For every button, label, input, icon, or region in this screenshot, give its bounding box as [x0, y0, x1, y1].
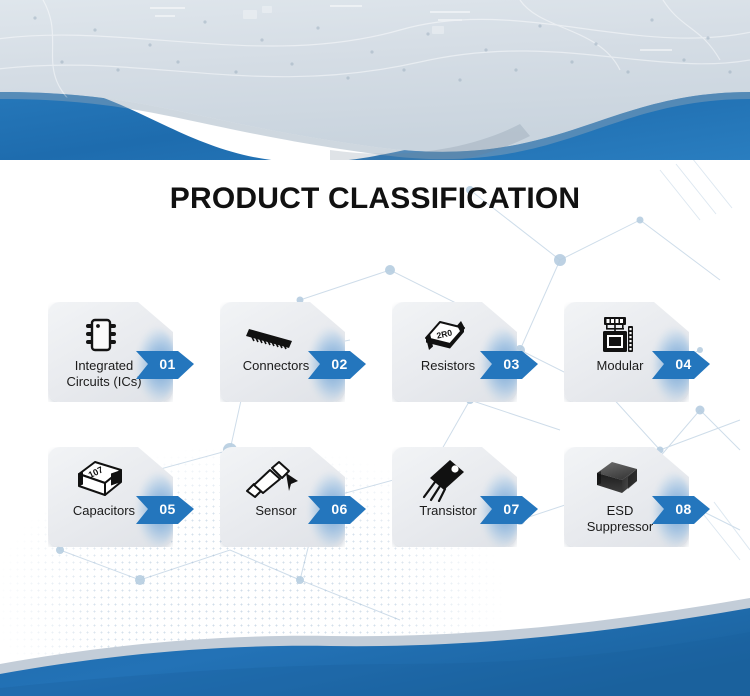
card-label-line2: Circuits (ICs)	[66, 374, 141, 389]
badge-07: 07	[478, 490, 540, 528]
card-label-line1: Integrated	[75, 358, 134, 373]
card-label-line1: ESD	[607, 503, 634, 518]
badge-number: 08	[650, 490, 705, 528]
header-banner	[0, 0, 750, 160]
card-label-line2: Suppressor	[587, 519, 653, 534]
badge-05: 05	[134, 490, 196, 528]
category-card-esd-suppressor[interactable]: ESD Suppressor 08	[564, 447, 689, 547]
category-card-connectors[interactable]: Connectors 02	[220, 302, 345, 402]
badge-number: 01	[134, 345, 189, 383]
badge-number: 04	[650, 345, 705, 383]
badge-number: 03	[478, 345, 533, 383]
header-circuit-texture	[0, 0, 750, 160]
category-card-transistor[interactable]: Transistor 07	[392, 447, 517, 547]
footer-wave-shape	[0, 536, 750, 696]
badge-03: 03	[478, 345, 540, 383]
category-card-modular[interactable]: Modular 04	[564, 302, 689, 402]
card-label-line1: Transistor	[419, 503, 476, 518]
card-label-line1: Sensor	[255, 503, 296, 518]
category-grid: Integrated Circuits (ICs) 01	[48, 302, 708, 547]
badge-02: 02	[306, 345, 368, 383]
category-card-integrated-circuits[interactable]: Integrated Circuits (ICs) 01	[48, 302, 173, 402]
badge-08: 08	[650, 490, 712, 528]
badge-number: 06	[306, 490, 361, 528]
badge-01: 01	[134, 345, 196, 383]
category-card-capacitors[interactable]: 107 Capacitors 05	[48, 447, 173, 547]
badge-06: 06	[306, 490, 368, 528]
card-label-line1: Capacitors	[73, 503, 135, 518]
footer-wave	[0, 536, 750, 696]
badge-number: 07	[478, 490, 533, 528]
product-classification-poster: PRODUCT CLASSIFICATION	[0, 0, 750, 696]
badge-number: 05	[134, 490, 189, 528]
category-card-resistors[interactable]: 2R0 Resistors 03	[392, 302, 517, 402]
card-label-line1: Resistors	[421, 358, 475, 373]
card-label-line1: Modular	[597, 358, 644, 373]
category-card-sensor[interactable]: Sensor 06	[220, 447, 345, 547]
badge-number: 02	[306, 345, 361, 383]
page-title: PRODUCT CLASSIFICATION	[0, 182, 750, 216]
card-label-line1: Connectors	[243, 358, 309, 373]
badge-04: 04	[650, 345, 712, 383]
